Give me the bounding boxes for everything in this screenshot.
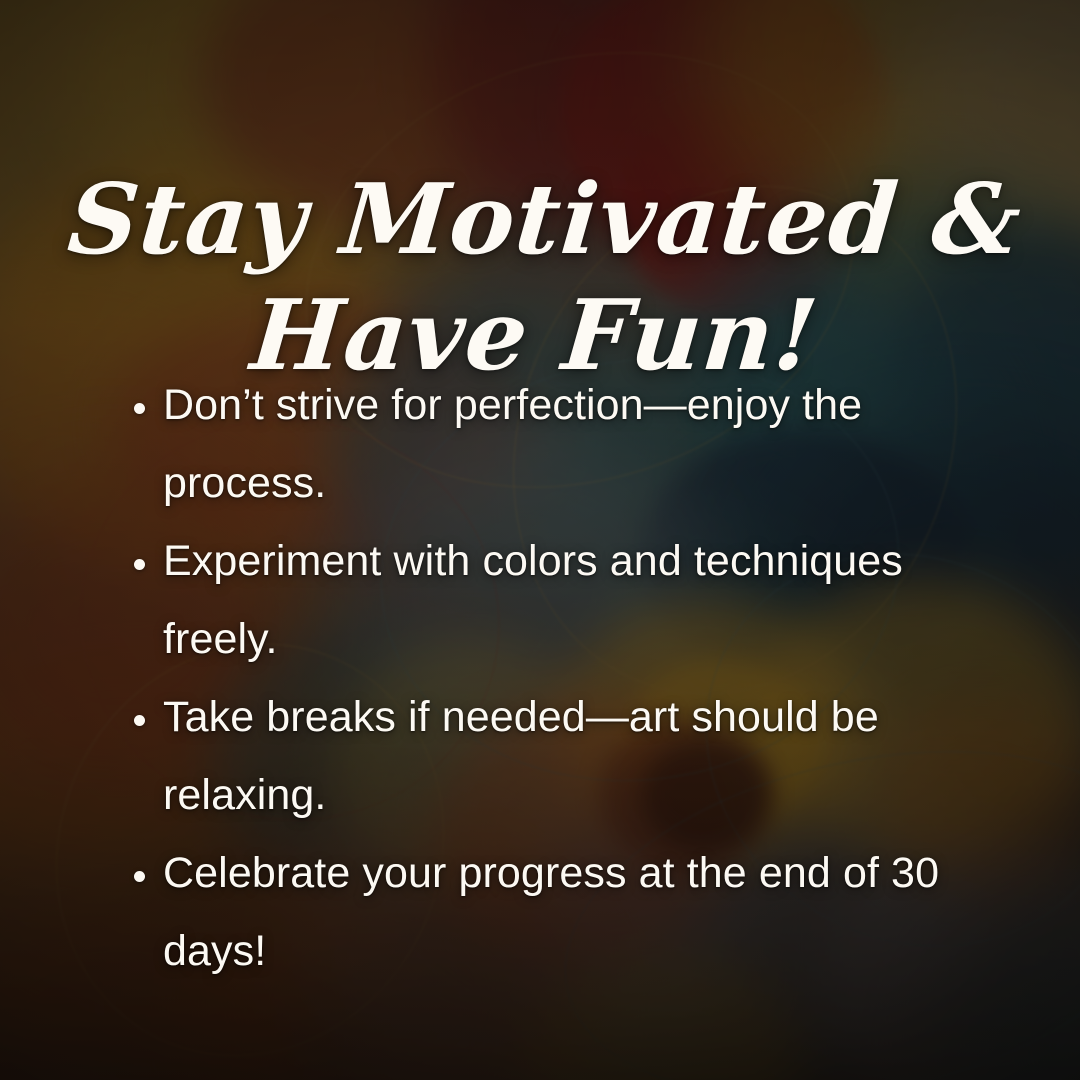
list-item: Take breaks if needed—art should be rela…: [128, 678, 1024, 834]
tips-list: Don’t strive for perfection—enjoy the pr…: [128, 366, 1024, 990]
poster-canvas: Stay Motivated & Have Fun! Don’t strive …: [0, 0, 1080, 1080]
list-item: Don’t strive for perfection—enjoy the pr…: [128, 366, 1024, 522]
list-item: Experiment with colors and techniques fr…: [128, 522, 1024, 678]
list-item: Celebrate your progress at the end of 30…: [128, 834, 1024, 990]
page-title: Stay Motivated & Have Fun!: [0, 161, 1080, 394]
poster-content: Stay Motivated & Have Fun! Don’t strive …: [0, 0, 1080, 1080]
